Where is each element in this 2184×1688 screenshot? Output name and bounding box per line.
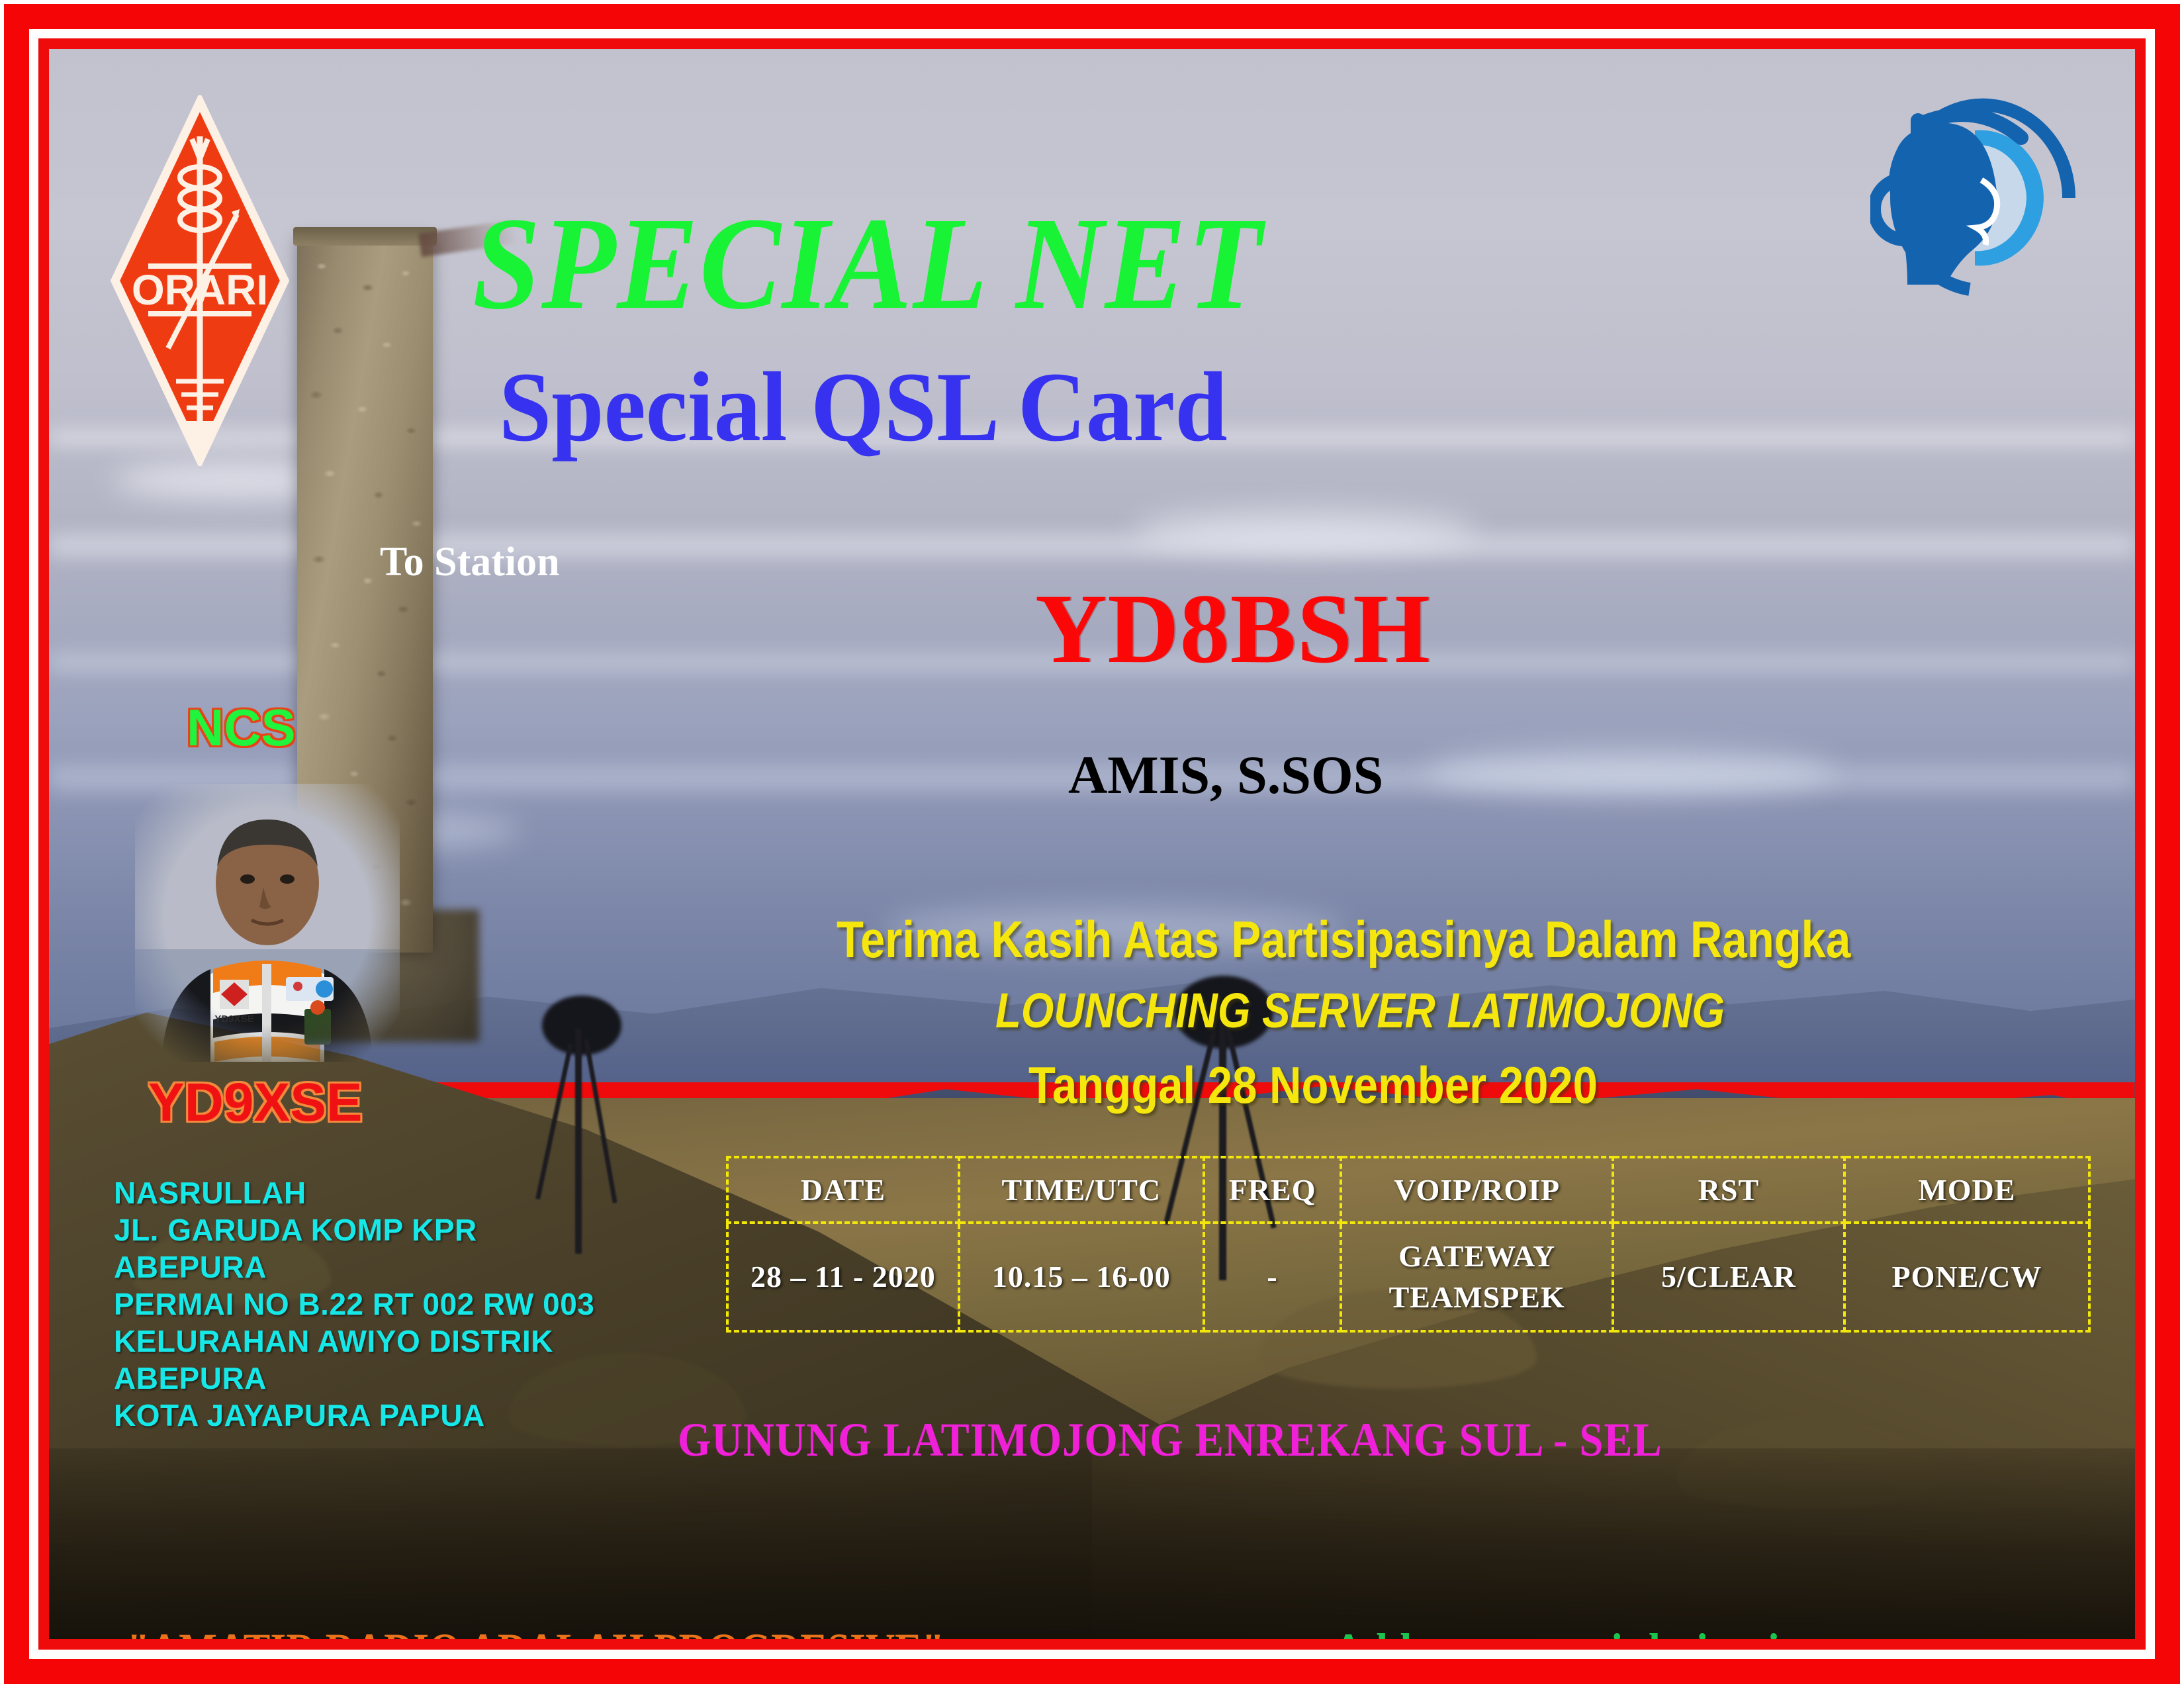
cell-time: 10.15 – 16-00: [959, 1223, 1204, 1331]
ncs-callsign: YD9XSE: [148, 1072, 363, 1134]
cell-rst: 5/CLEAR: [1613, 1223, 1844, 1331]
footer-slogan: "AMATIR RADIO ADALAH PROGRESIVE": [127, 1623, 944, 1639]
col-header-voip-roip: VOIP/ROIP: [1341, 1157, 1613, 1223]
address-line: ABEPURA: [114, 1360, 594, 1397]
cloud-patch: [1426, 749, 1836, 795]
orari-logo-text: ORARI: [132, 266, 268, 314]
address-line: KELURAHAN AWIYO DISTRIK: [114, 1323, 594, 1360]
address-block: NASRULLAH JL. GARUDA KOMP KPR ABEPURA PE…: [114, 1174, 594, 1434]
ncs-label: NCS: [187, 698, 296, 758]
event-thanks-line: Terima Kasih Atas Partisipasinya Dalam R…: [837, 910, 1850, 970]
page-subtitle: Special QSL Card: [499, 350, 1228, 464]
address-line: ABEPURA: [114, 1248, 594, 1286]
cell-voip-roip: GATEWAY TEAMSPEK: [1341, 1223, 1613, 1331]
to-station-label: To Station: [380, 539, 560, 586]
event-name-line: LOUNCHING SERVER LATIMOJONG: [995, 982, 1725, 1039]
tree-silhouette: [542, 996, 621, 1055]
address-line: PERMAI NO B.22 RT 002 RW 003: [114, 1286, 594, 1323]
table-header-row: DATE TIME/UTC FREQ VOIP/ROIP RST MODE: [727, 1157, 2089, 1223]
cell-freq: -: [1204, 1223, 1341, 1331]
cell-voip-roip-line2: TEAMSPEK: [1389, 1280, 1565, 1314]
table-row: 28 – 11 - 2020 10.15 – 16-00 - GATEWAY T…: [727, 1223, 2089, 1331]
col-header-time: TIME/UTC: [959, 1157, 1204, 1223]
qso-table: DATE TIME/UTC FREQ VOIP/ROIP RST MODE 28…: [726, 1156, 2091, 1333]
page-title: SPECIAL NET: [473, 188, 1263, 340]
address-line: KOTA JAYAPURA PAPUA: [114, 1397, 594, 1434]
cell-mode: PONE/CW: [1844, 1223, 2089, 1331]
ncs-operator-photo: YD9XSE: [135, 784, 400, 1062]
orari-logo: ORARI: [107, 95, 293, 466]
event-date-line: Tanggal 28 November 2020: [1028, 1055, 1598, 1115]
radio-operator-headphone-logo: [1870, 89, 2109, 307]
location-line: GUNUNG LATIMOJONG ENREKANG SUL - SEL: [678, 1413, 1662, 1468]
cell-date: 28 – 11 - 2020: [727, 1223, 959, 1331]
footer-address: Address : amatir.latimojong.com: [1333, 1623, 1933, 1639]
station-callsign: YD8BSH: [1035, 572, 1431, 686]
address-line: NASRULLAH: [114, 1174, 594, 1211]
col-header-mode: MODE: [1844, 1157, 2089, 1223]
col-header-freq: FREQ: [1204, 1157, 1341, 1223]
operator-name: AMIS, S.SOS: [1068, 744, 1383, 806]
address-line: JL. GARUDA KOMP KPR: [114, 1211, 594, 1248]
cloud-patch: [1134, 510, 1478, 550]
foreground-shadow: [49, 1448, 2135, 1639]
col-header-rst: RST: [1613, 1157, 1844, 1223]
background-photo: ORARI: [49, 49, 2135, 1639]
qsl-card: ORARI: [0, 0, 2184, 1688]
svg-text:YD9XSE: YD9XSE: [214, 1013, 253, 1025]
col-header-date: DATE: [727, 1157, 959, 1223]
cell-voip-roip-line1: GATEWAY: [1398, 1239, 1555, 1273]
